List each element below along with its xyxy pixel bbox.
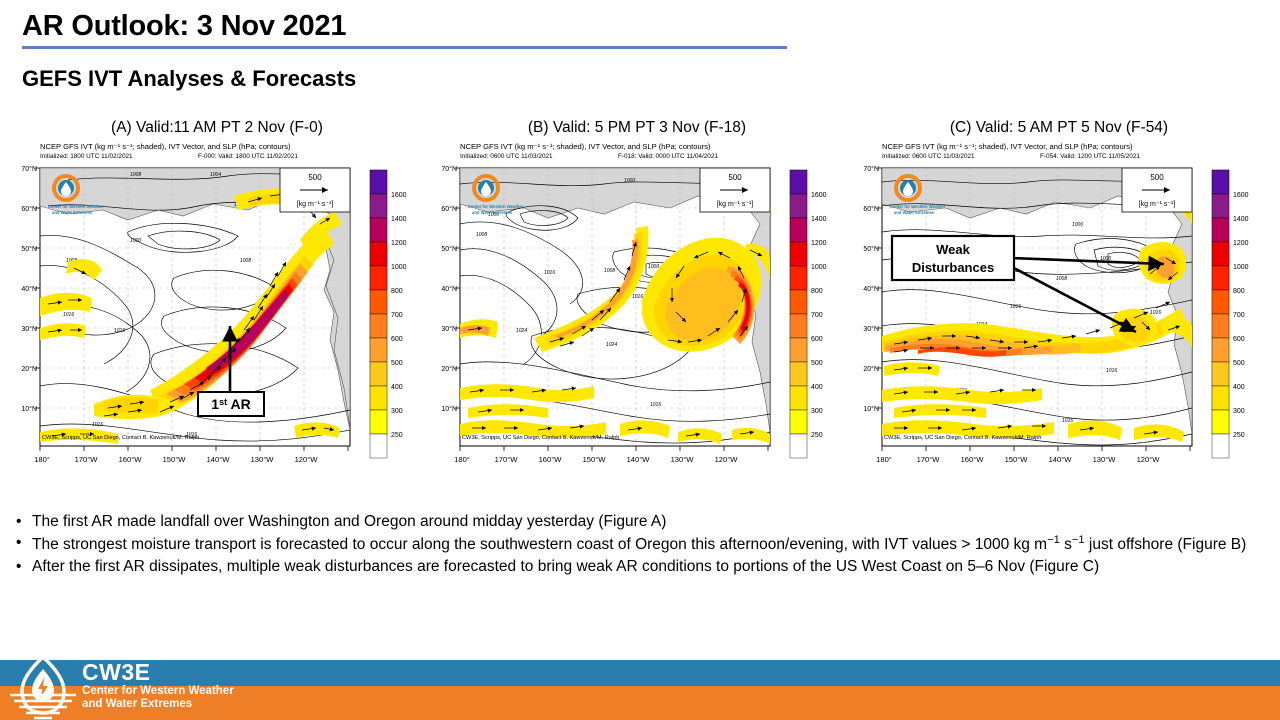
svg-text:1600: 1600: [391, 192, 407, 199]
svg-text:150°W: 150°W: [583, 455, 607, 464]
svg-text:800: 800: [811, 288, 823, 295]
panel-b-vector-scale: 500 [kg m⁻¹ s⁻¹]: [700, 168, 770, 212]
svg-text:1400: 1400: [391, 216, 407, 223]
panel-c-caption: NCEP GFS IVT (kg m⁻¹ s⁻¹; shaded), IVT V…: [882, 142, 1133, 151]
svg-text:1000: 1000: [391, 264, 407, 271]
inset-logo-line2: and Water Extremes: [52, 210, 93, 215]
bullet-marker: •: [16, 533, 32, 556]
svg-text:1016: 1016: [1106, 368, 1117, 374]
footer-line1: Center for Western Weather: [82, 685, 234, 698]
svg-text:1016: 1016: [544, 270, 555, 276]
svg-text:140°W: 140°W: [627, 455, 651, 464]
svg-text:1008: 1008: [476, 232, 487, 238]
svg-text:120°W: 120°W: [715, 455, 739, 464]
svg-text:130°W: 130°W: [1093, 455, 1117, 464]
svg-text:500: 500: [308, 173, 322, 182]
svg-text:1000: 1000: [130, 238, 141, 244]
svg-text:250: 250: [811, 432, 823, 439]
svg-text:1000: 1000: [1072, 222, 1083, 228]
svg-text:Disturbances: Disturbances: [912, 260, 994, 275]
svg-text:40°N: 40°N: [21, 285, 37, 293]
svg-text:60°N: 60°N: [863, 205, 879, 213]
summary-bullets: •The first AR made landfall over Washing…: [16, 512, 1266, 579]
svg-text:500: 500: [391, 360, 403, 367]
svg-text:1400: 1400: [811, 216, 827, 223]
svg-text:160°W: 160°W: [539, 455, 563, 464]
panel-a-colorbar: 16001400 12001000 800700 600500 400300 2…: [370, 170, 407, 458]
svg-text:1200: 1200: [391, 240, 407, 247]
panel-b-initialized: Initialized: 0600 UTC 11/03/2021: [460, 153, 553, 160]
svg-text:1000: 1000: [624, 178, 635, 184]
svg-text:300: 300: [811, 408, 823, 415]
svg-text:400: 400: [1233, 384, 1245, 391]
svg-text:1024: 1024: [606, 342, 617, 348]
svg-text:[kg m⁻¹ s⁻¹]: [kg m⁻¹ s⁻¹]: [297, 201, 334, 208]
panel-c-colorbar: 16001400 12001000 800700 600500 400300 2…: [1212, 170, 1249, 458]
svg-text:700: 700: [811, 312, 823, 319]
inset-logo-line1: Center for Western Weather: [48, 204, 104, 209]
svg-text:1016: 1016: [63, 312, 74, 318]
svg-text:180°: 180°: [34, 455, 50, 464]
svg-text:40°N: 40°N: [863, 285, 879, 293]
svg-text:1000: 1000: [1233, 264, 1249, 271]
panel-c-svg: NCEP GFS IVT (kg m⁻¹ s⁻¹; shaded), IVT V…: [850, 140, 1268, 492]
svg-text:1016: 1016: [1010, 304, 1021, 310]
footer-brand: CW3E: [82, 660, 234, 685]
svg-text:30°N: 30°N: [441, 325, 457, 333]
svg-text:10°N: 10°N: [21, 405, 37, 413]
slide-root: AR Outlook: 3 Nov 2021 GEFS IVT Analyses…: [0, 0, 1280, 720]
svg-text:1004: 1004: [210, 172, 221, 178]
panel-c-valid: F-054: Valid: 1200 UTC 11/05/2021: [1040, 153, 1140, 160]
svg-text:600: 600: [1233, 336, 1245, 343]
svg-text:500: 500: [728, 173, 742, 182]
svg-text:140°W: 140°W: [1049, 455, 1073, 464]
panel-a-x-axis: 180°170°W 160°W150°W 140°W130°W 120°W: [34, 455, 318, 464]
panel-b-map: NCEP GFS IVT (kg m⁻¹ s⁻¹; shaded), IVT V…: [428, 140, 846, 492]
panel-b-svg: NCEP GFS IVT (kg m⁻¹ s⁻¹; shaded), IVT V…: [428, 140, 846, 492]
bullet-marker: •: [16, 557, 32, 577]
svg-text:160°W: 160°W: [961, 455, 985, 464]
svg-text:120°W: 120°W: [1137, 455, 1161, 464]
svg-text:1008: 1008: [240, 258, 251, 264]
svg-text:50°N: 50°N: [863, 245, 879, 253]
svg-text:70°N: 70°N: [441, 165, 457, 173]
svg-text:50°N: 50°N: [441, 245, 457, 253]
footer-line2: and Water Extremes: [82, 698, 234, 711]
panel-a-caption: NCEP GFS IVT (kg m⁻¹ s⁻¹; shaded), IVT V…: [40, 142, 291, 151]
svg-text:50°N: 50°N: [21, 245, 37, 253]
panel-a-title: (A) Valid:11 AM PT 2 Nov (F-0): [8, 118, 426, 140]
title-underline: [22, 46, 787, 49]
page-title: AR Outlook: 3 Nov 2021: [22, 10, 346, 43]
panel-c-map: NCEP GFS IVT (kg m⁻¹ s⁻¹; shaded), IVT V…: [850, 140, 1268, 492]
svg-text:1016: 1016: [650, 402, 661, 408]
inset-logo-b-line2: and Water Extremes: [472, 210, 513, 215]
figure-panel-a: (A) Valid:11 AM PT 2 Nov (F-0) NCEP GFS …: [8, 118, 426, 498]
panel-a-attribution: CW3E, Scripps, UC San Diego, Contact B. …: [42, 435, 199, 441]
svg-text:800: 800: [391, 288, 403, 295]
panel-c-vector-scale: 500 [kg m⁻¹ s⁻¹]: [1122, 168, 1192, 212]
panel-a-valid: F-000: Valid: 1800 UTC 11/02/2021: [198, 153, 298, 160]
svg-text:1016: 1016: [92, 422, 103, 428]
svg-text:600: 600: [811, 336, 823, 343]
bullet-marker: •: [16, 512, 32, 532]
svg-text:30°N: 30°N: [21, 325, 37, 333]
page-subtitle: GEFS IVT Analyses & Forecasts: [22, 66, 356, 92]
panel-b-colorbar: 16001400 12001000 800700 600500 400300 2…: [790, 170, 827, 458]
svg-text:40°N: 40°N: [441, 285, 457, 293]
svg-text:120°W: 120°W: [295, 455, 319, 464]
panel-a-svg: NCEP GFS IVT (kg m⁻¹ s⁻¹; shaded), IVT V…: [8, 140, 426, 492]
svg-text:1016: 1016: [114, 328, 125, 334]
panel-a-vector-scale: 500 [kg m⁻¹ s⁻¹]: [280, 168, 350, 212]
svg-text:1024: 1024: [516, 328, 527, 334]
svg-text:500: 500: [811, 360, 823, 367]
svg-text:130°W: 130°W: [251, 455, 275, 464]
svg-text:180°: 180°: [454, 455, 470, 464]
svg-text:1008: 1008: [130, 172, 141, 178]
svg-text:Weak: Weak: [936, 242, 970, 257]
svg-text:170°W: 170°W: [917, 455, 941, 464]
svg-text:10°N: 10°N: [441, 405, 457, 413]
panel-b-x-axis: 180°170°W 160°W150°W 140°W130°W 120°W: [454, 455, 738, 464]
panel-c-y-axis: 70°N60°N 50°N40°N 30°N20°N 10°N: [863, 165, 879, 413]
panel-c-attribution: CW3E, Scripps, UC San Diego, Contact B. …: [884, 435, 1041, 441]
svg-text:1000: 1000: [811, 264, 827, 271]
panel-b-attribution: CW3E, Scripps, UC San Diego, Contact B. …: [462, 435, 619, 441]
svg-text:1400: 1400: [1233, 216, 1249, 223]
inset-logo-b-line1: Center for Western Weather: [468, 204, 524, 209]
figure-panel-c: (C) Valid: 5 AM PT 5 Nov (F-54) NCEP GFS…: [850, 118, 1268, 498]
svg-text:300: 300: [1233, 408, 1245, 415]
svg-text:1000: 1000: [648, 264, 659, 270]
panel-b-y-axis: 70°N60°N 50°N40°N 30°N20°N 10°N: [441, 165, 457, 413]
svg-text:20°N: 20°N: [441, 365, 457, 373]
svg-text:700: 700: [1233, 312, 1245, 319]
panel-c-title: (C) Valid: 5 AM PT 5 Nov (F-54): [850, 118, 1268, 140]
panel-b-title: (B) Valid: 5 PM PT 3 Nov (F-18): [428, 118, 846, 140]
svg-text:700: 700: [391, 312, 403, 319]
svg-text:70°N: 70°N: [21, 165, 37, 173]
svg-text:170°W: 170°W: [75, 455, 99, 464]
cw3e-logo-icon: [8, 655, 78, 720]
inset-logo-c-line2: and Water Extremes: [894, 210, 935, 215]
svg-text:250: 250: [391, 432, 403, 439]
svg-text:1600: 1600: [811, 192, 827, 199]
svg-text:180°: 180°: [876, 455, 892, 464]
svg-text:1600: 1600: [1233, 192, 1249, 199]
panel-b-valid: F-018: Valid: 0000 UTC 11/04/2021: [618, 153, 718, 160]
svg-text:130°W: 130°W: [671, 455, 695, 464]
svg-text:60°N: 60°N: [441, 205, 457, 213]
bullet-text: The strongest moisture transport is fore…: [32, 533, 1266, 556]
svg-text:70°N: 70°N: [863, 165, 879, 173]
svg-text:20°N: 20°N: [21, 365, 37, 373]
svg-text:170°W: 170°W: [495, 455, 519, 464]
panel-c-initialized: Initialized: 0600 UTC 11/03/2021: [882, 153, 975, 160]
bullet-item: •The strongest moisture transport is for…: [16, 533, 1266, 556]
svg-text:1016: 1016: [632, 294, 643, 300]
svg-text:400: 400: [811, 384, 823, 391]
panel-a-map: NCEP GFS IVT (kg m⁻¹ s⁻¹; shaded), IVT V…: [8, 140, 426, 492]
svg-text:1008: 1008: [1056, 276, 1067, 282]
svg-text:1200: 1200: [1233, 240, 1249, 247]
svg-text:1st AR: 1st AR: [211, 396, 250, 412]
svg-text:800: 800: [1233, 288, 1245, 295]
svg-text:1200: 1200: [811, 240, 827, 247]
footer-text: CW3E Center for Western Weather and Wate…: [82, 660, 234, 711]
svg-text:500: 500: [1233, 360, 1245, 367]
panel-b-caption: NCEP GFS IVT (kg m⁻¹ s⁻¹; shaded), IVT V…: [460, 142, 711, 151]
svg-text:1016: 1016: [1150, 310, 1161, 316]
bullet-text: After the first AR dissipates, multiple …: [32, 557, 1266, 577]
bullet-item: •The first AR made landfall over Washing…: [16, 512, 1266, 532]
svg-text:160°W: 160°W: [119, 455, 143, 464]
svg-text:400: 400: [391, 384, 403, 391]
svg-text:300: 300: [391, 408, 403, 415]
svg-text:140°W: 140°W: [207, 455, 231, 464]
svg-text:500: 500: [1150, 173, 1164, 182]
svg-text:600: 600: [391, 336, 403, 343]
inset-logo-c-line1: Center for Western Weather: [890, 204, 946, 209]
panel-c-x-axis: 180°170°W 160°W150°W 140°W130°W 120°W: [876, 455, 1160, 464]
svg-text:[kg m⁻¹ s⁻¹]: [kg m⁻¹ s⁻¹]: [717, 201, 754, 208]
svg-text:60°N: 60°N: [21, 205, 37, 213]
svg-text:30°N: 30°N: [863, 325, 879, 333]
svg-text:150°W: 150°W: [1005, 455, 1029, 464]
svg-text:150°W: 150°W: [163, 455, 187, 464]
svg-text:250: 250: [1233, 432, 1245, 439]
bullet-text: The first AR made landfall over Washingt…: [32, 512, 1266, 532]
bullet-item: •After the first AR dissipates, multiple…: [16, 557, 1266, 577]
svg-text:10°N: 10°N: [863, 405, 879, 413]
panel-a-initialized: Initialized: 1800 UTC 11/02/2021: [40, 153, 133, 160]
svg-text:1008: 1008: [604, 268, 615, 274]
svg-text:[kg m⁻¹ s⁻¹]: [kg m⁻¹ s⁻¹]: [1139, 201, 1176, 208]
panel-a-y-axis: 70°N60°N 50°N40°N 30°N20°N 10°N: [21, 165, 37, 413]
figure-panel-b: (B) Valid: 5 PM PT 3 Nov (F-18) NCEP GFS…: [428, 118, 846, 498]
svg-text:20°N: 20°N: [863, 365, 879, 373]
